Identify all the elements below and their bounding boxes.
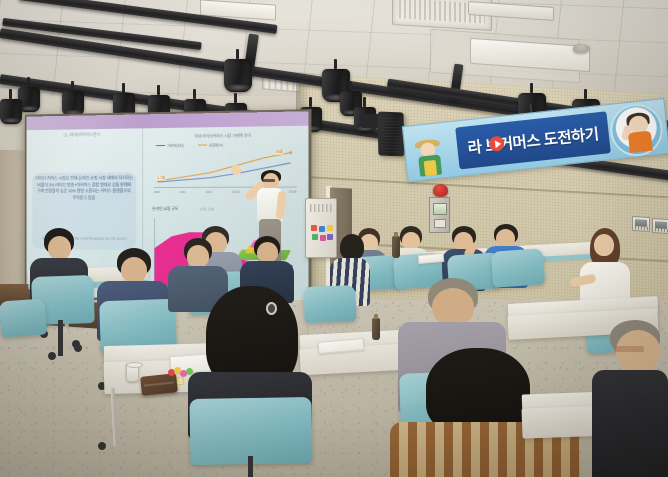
spotlight-yoke — [236, 49, 239, 59]
control-buttons[interactable] — [655, 228, 668, 232]
sticker — [311, 225, 317, 231]
chair-post — [58, 320, 63, 356]
spotlight-yoke — [334, 59, 337, 69]
legend-item: 거래액(조원) — [156, 143, 184, 148]
character-torso — [628, 131, 653, 153]
banner-title: 라 브커머스 도전하기 — [455, 111, 611, 169]
ac-control-panel-1[interactable] — [632, 216, 650, 232]
attendee-hair — [340, 234, 364, 260]
sticker — [319, 226, 325, 232]
sprinkler-head-icon — [573, 44, 589, 53]
x-tick: 2020 — [154, 191, 160, 194]
attendee-head — [594, 234, 614, 256]
spotlight-lens — [2, 118, 20, 123]
attendee-head — [48, 236, 71, 260]
spotlight-yoke — [157, 85, 160, 95]
cabinet-vent — [310, 204, 332, 212]
area-chart-title: 온라인 쇼핑 규모 — [152, 206, 178, 212]
x-tick: 2021 — [180, 191, 186, 194]
woman-waving-character-illustration — [608, 101, 665, 158]
sticker — [312, 234, 318, 240]
farmer-character-illustration — [410, 134, 452, 178]
line-chart-legend: 거래액(조원) 성장률(%) — [156, 142, 223, 148]
spotlight-yoke — [584, 89, 587, 99]
water-bottle — [372, 318, 380, 340]
glasses-icon — [614, 346, 644, 352]
track-spotlight — [224, 56, 252, 96]
spotlight-yoke — [27, 77, 30, 87]
spotlight-yoke — [309, 97, 312, 107]
legend-label: 거래액(조원) — [167, 143, 184, 148]
chair — [0, 298, 47, 337]
alarm-panel-window — [433, 203, 447, 215]
spotlight-yoke — [71, 81, 74, 91]
spotlight-yoke — [349, 81, 352, 91]
presenter-lower-arm — [276, 191, 287, 220]
chair — [189, 397, 312, 465]
legend-item: 성장률(%) — [198, 142, 223, 147]
slide-left-body: 라이브 커머스 시장은 전체 온라인 쇼핑 시장 내에서 차지하는 비율이 3%… — [35, 175, 133, 202]
spotlight-housing — [0, 99, 22, 124]
sticker — [327, 225, 333, 231]
ac-control-panel-2[interactable] — [652, 218, 668, 234]
fire-alarm-bell-icon — [433, 184, 448, 197]
spotlight-housing — [62, 91, 84, 116]
attendee-top — [592, 370, 668, 477]
water-bottle — [392, 236, 400, 258]
line-chart-title: 국내 라이브커머스 시장 거래액 추이 — [146, 132, 301, 140]
legend-swatch — [198, 144, 207, 146]
chair-caster — [48, 352, 56, 360]
legend-label: 성장률(%) — [209, 142, 223, 147]
spotlight-yoke — [363, 97, 366, 107]
attendee-head — [187, 245, 209, 268]
spotlight-lens — [226, 84, 250, 91]
glasses-icon — [262, 179, 275, 182]
spotlight-yoke — [234, 93, 237, 103]
chair-post — [248, 456, 253, 477]
seminar-room-photo: 라 브커머스 도전하기 〈1. 라이브커머스란?〉 라이브 커머스 시장은 전체… — [0, 0, 668, 477]
line-chart-start-label: 1.7조 — [156, 176, 166, 181]
attendee-head — [432, 288, 474, 326]
attendee — [592, 320, 668, 477]
slide-left-title: 〈1. 라이브커머스란?〉 — [40, 132, 125, 139]
desk-caster — [98, 442, 106, 450]
attendee-head — [257, 242, 278, 263]
spotlight-yoke — [9, 89, 12, 99]
track-spotlight — [0, 96, 22, 126]
x-tick: 2023E — [232, 191, 240, 194]
paper-cup[interactable] — [126, 363, 139, 382]
attendee-head — [121, 257, 147, 283]
spotlight-yoke — [193, 89, 196, 99]
sticker — [320, 235, 326, 241]
spotlight-housing — [224, 59, 252, 92]
character-apron — [424, 160, 438, 176]
spotlight-lens — [20, 106, 38, 111]
hair-clip-icon — [266, 302, 277, 315]
x-tick: 2022 — [206, 191, 212, 194]
control-buttons[interactable] — [635, 226, 649, 230]
spotlight-yoke — [122, 83, 125, 93]
line-chart-end-label: 10조 — [275, 150, 285, 155]
chair-caster — [74, 344, 82, 352]
area-chart-subtitle: (단위: 조원) — [200, 207, 214, 211]
wall-speaker-icon — [378, 112, 405, 157]
line-endpoint — [289, 151, 292, 154]
legend-swatch — [156, 145, 165, 147]
spotlight-yoke — [530, 83, 533, 93]
